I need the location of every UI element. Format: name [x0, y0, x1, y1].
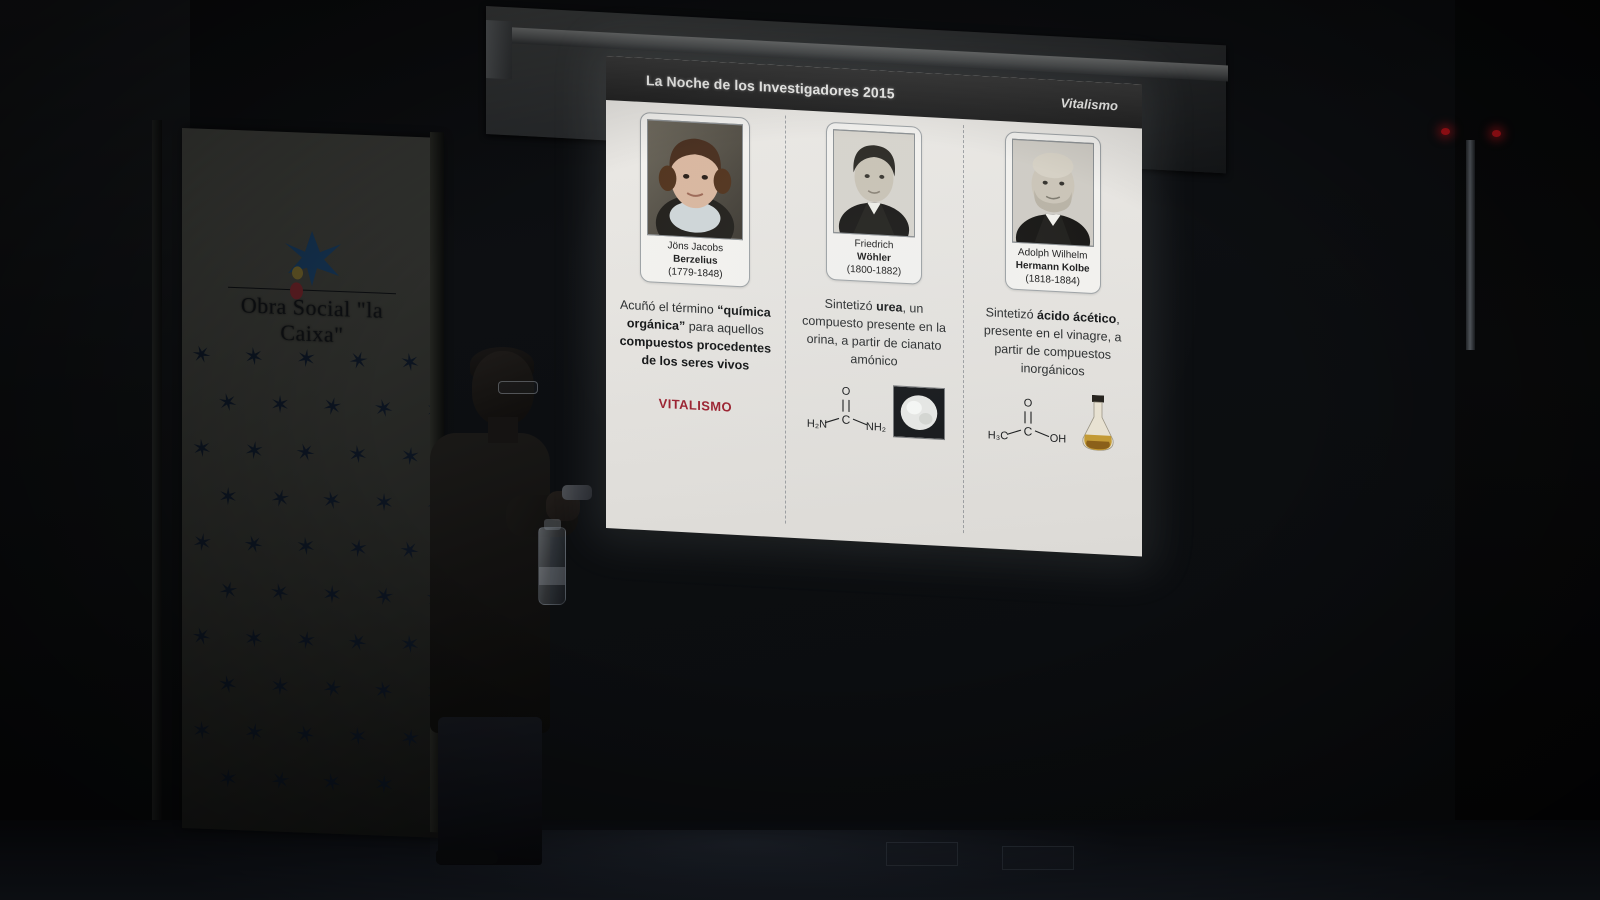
acetic-group-right: OH	[1049, 433, 1066, 446]
la-caixa-star-icon: ✶	[243, 627, 265, 652]
la-caixa-star-icon: ✶	[371, 396, 396, 424]
la-caixa-star-icon: ✶	[215, 577, 241, 606]
la-caixa-star-icon: ✶	[295, 535, 318, 560]
speaker-shoe	[436, 850, 498, 864]
la-caixa-star-icon: ✶	[242, 720, 266, 747]
acetic-atom-o: O	[1023, 398, 1032, 410]
figure-row: O C H₃C OH	[985, 390, 1121, 455]
acetic-acid-structure: O C H₃C OH	[985, 392, 1071, 451]
bottle-label	[539, 567, 565, 585]
la-caixa-star-icon: ✶	[191, 719, 213, 744]
la-caixa-star-icon: ✶	[374, 773, 395, 798]
vinegar-bottle-photo	[1075, 394, 1121, 454]
la-caixa-star-icon: ✶	[218, 485, 239, 510]
portrait-name-line1: Friedrich	[855, 238, 894, 251]
acetic-group-left: H₃C	[987, 430, 1007, 443]
la-caixa-star-icon: ✶	[293, 439, 320, 468]
column-body-text: Sintetizó ácido ácético, presente en el …	[969, 288, 1136, 384]
floor-grate	[886, 842, 958, 866]
speaker-neck	[488, 417, 518, 443]
la-caixa-star-icon: ✶	[398, 726, 421, 753]
la-caixa-star-icon: ✶	[270, 675, 291, 700]
la-caixa-star-icon: ✶	[267, 767, 293, 796]
la-caixa-star-icon: ✶	[374, 491, 394, 516]
red-led-indicator	[1492, 130, 1501, 137]
urea-group-left: H₂N	[807, 418, 827, 431]
portrait-kolbe	[1012, 139, 1094, 247]
la-caixa-star-icon: ✶	[398, 351, 421, 377]
la-caixa-star-icon: ✶	[319, 675, 345, 704]
screen-housing-endcap	[486, 20, 512, 79]
figure-row: O C H₂N NH₂	[803, 380, 945, 442]
la-caixa-logo: Obra Social "la Caixa"	[222, 225, 402, 351]
logo-red-dot	[290, 282, 303, 299]
portrait-name-line2: Berzelius	[673, 253, 717, 266]
urea-atom-o: O	[842, 386, 851, 398]
slide-section-tag: Vitalismo	[1061, 95, 1126, 113]
slide-column-wohler: Friedrich Wöhler (1800-1882) Sintetizó u…	[785, 110, 964, 548]
slide-title: La Noche de los Investigadores 2015	[646, 72, 895, 101]
slide-column-kolbe: Adolph Wilhelm Hermann Kolbe (1818-1884)…	[963, 119, 1142, 557]
portrait-name-line1: Jöns Jacobs	[668, 240, 724, 254]
la-caixa-star-icon: ✶	[320, 488, 345, 515]
la-caixa-star-icon: ✶	[243, 345, 266, 371]
auditorium-scene: Obra Social "la Caixa" ✶✶✶✶✶✶✶✶✶✶✶✶✶✶✶✶✶…	[0, 0, 1600, 900]
la-caixa-star-icon: ✶	[293, 721, 320, 750]
portrait-berzelius	[647, 119, 743, 240]
speaker-silhouette	[420, 345, 610, 865]
la-caixa-star-icon: ✶	[372, 678, 397, 705]
slide-column-berzelius: Jöns Jacobs Berzelius (1779-1848) Acuñó …	[606, 100, 785, 538]
slide-columns: Jöns Jacobs Berzelius (1779-1848) Acuñó …	[606, 100, 1142, 557]
la-caixa-star-icon: ✶	[399, 444, 422, 471]
la-caixa-star-icon: ✶	[345, 347, 372, 377]
la-caixa-star-icon: ✶	[322, 583, 343, 608]
speaker-legs	[438, 717, 542, 865]
la-caixa-star-icon: ✶	[217, 767, 238, 793]
la-caixa-star-icon: ✶	[189, 341, 216, 370]
la-caixa-star-icon: ✶	[191, 437, 214, 462]
urea-powder-photo	[893, 386, 945, 441]
portrait-caption: Jöns Jacobs Berzelius (1779-1848)	[647, 235, 743, 283]
la-caixa-star-icon: ✶	[216, 390, 241, 417]
column-body-text: Sintetizó urea, un compuesto presente en…	[791, 278, 958, 374]
projection-screen: La Noche de los Investigadores 2015 Vita…	[606, 56, 1142, 557]
urea-atom-c: C	[842, 413, 851, 427]
vitalismo-highlight: VITALISMO	[659, 396, 732, 415]
sponsor-banner: Obra Social "la Caixa" ✶✶✶✶✶✶✶✶✶✶✶✶✶✶✶✶✶…	[182, 128, 440, 838]
column-body-text: Acuñó el término “química orgánica” para…	[612, 281, 779, 377]
right-wall	[1455, 0, 1600, 900]
acetic-atom-c: C	[1023, 425, 1032, 439]
la-caixa-star-icon: ✶	[267, 485, 292, 514]
portrait-dates: (1818-1884)	[1025, 273, 1079, 287]
glasses-icon	[498, 381, 538, 394]
portrait-dates: (1779-1848)	[668, 266, 722, 280]
portrait-dates: (1800-1882)	[847, 263, 901, 277]
presentation-slide: La Noche de los Investigadores 2015 Vita…	[606, 56, 1142, 557]
la-caixa-star-icon: ✶	[320, 770, 344, 797]
portrait-name-line2: Wöhler	[857, 251, 891, 264]
portrait-card: Friedrich Wöhler (1800-1882)	[826, 122, 922, 286]
portrait-caption: Friedrich Wöhler (1800-1882)	[833, 233, 915, 280]
portrait-wohler	[833, 129, 915, 237]
la-caixa-star-icon: ✶	[270, 393, 290, 418]
speaker-torso	[430, 433, 550, 733]
la-caixa-star-icon: ✶	[190, 530, 213, 557]
la-caixa-star-icon: ✶	[216, 672, 240, 699]
la-caixa-star-icon: ✶	[399, 633, 422, 658]
portrait-card: Adolph Wilhelm Hermann Kolbe (1818-1884)	[1005, 131, 1101, 295]
banner-star-pattern: ✶✶✶✶✶✶✶✶✶✶✶✶✶✶✶✶✶✶✶✶✶✶✶✶✶✶✶✶✶✶✶✶✶✶✶✶✶✶✶✶…	[182, 343, 440, 823]
wall-post	[1466, 140, 1475, 350]
banner-logo-text: Obra Social "la Caixa"	[222, 292, 402, 351]
logo-yellow-dot	[292, 266, 303, 279]
la-caixa-star-icon: ✶	[243, 438, 266, 465]
red-led-indicator	[1441, 128, 1450, 135]
la-caixa-star-icon: ✶	[268, 580, 293, 607]
la-caixa-star-icon: ✶	[347, 443, 370, 469]
la-caixa-star-icon: ✶	[371, 583, 396, 612]
water-bottle	[538, 527, 566, 605]
portrait-caption: Adolph Wilhelm Hermann Kolbe (1818-1884)	[1012, 243, 1094, 290]
door-frame	[152, 120, 162, 840]
la-caixa-star-icon: ✶	[347, 725, 369, 750]
urea-group-right: NH₂	[866, 421, 886, 434]
presentation-clicker	[562, 485, 592, 500]
portrait-card: Jöns Jacobs Berzelius (1779-1848)	[640, 112, 750, 288]
la-caixa-star-icon	[279, 227, 345, 290]
la-caixa-star-icon: ✶	[294, 628, 317, 655]
urea-structure: O C H₂N NH₂	[803, 380, 889, 439]
la-caixa-star-icon: ✶	[241, 531, 268, 560]
la-caixa-star-icon: ✶	[295, 346, 318, 373]
floor-grate	[1002, 846, 1074, 870]
la-caixa-star-icon: ✶	[189, 623, 216, 652]
la-caixa-star-icon: ✶	[320, 394, 345, 422]
la-caixa-star-icon: ✶	[347, 536, 370, 563]
la-caixa-star-icon: ✶	[345, 629, 372, 658]
